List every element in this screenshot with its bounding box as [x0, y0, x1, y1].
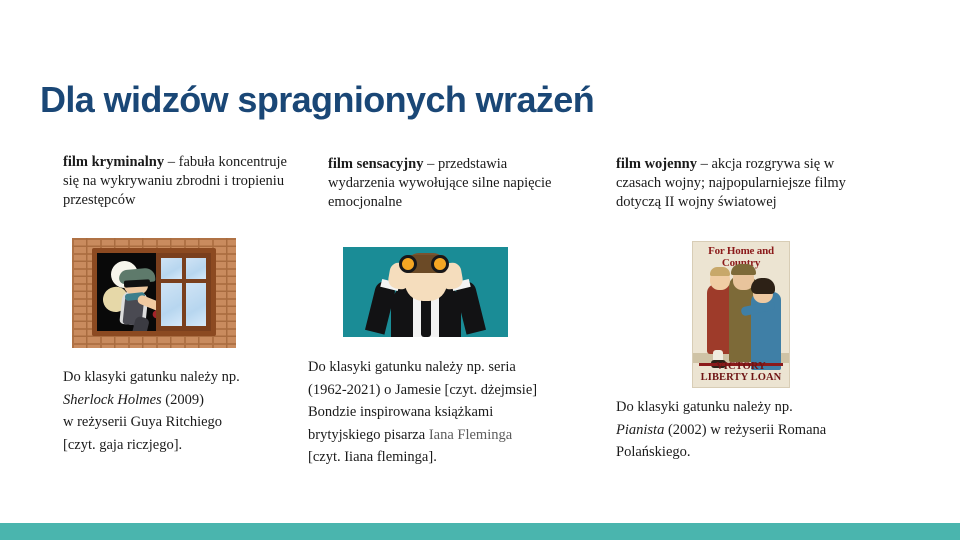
example-director-wojenny: Polańskiego.: [616, 444, 691, 460]
thief-mask-icon: [124, 279, 150, 287]
genre-dash-wojenny: –: [697, 156, 712, 172]
window-dark-opening: [97, 253, 156, 331]
footer-accent-bar: [0, 523, 960, 540]
example-sensacyjny: Do klasyki gatunku należy np. seria (196…: [308, 356, 578, 469]
window-pane: [161, 258, 181, 279]
example-lead-kryminalny: Do klasyki gatunku należy np.: [63, 369, 240, 385]
example-film-title-kryminalny: Sherlock Holmes: [63, 392, 162, 408]
example-director-kryminalny: w reżyserii Guya Ritchiego: [63, 414, 222, 430]
binoculars-man-illustration: [343, 247, 508, 337]
burglar-window-illustration: [72, 238, 236, 348]
example-line2-sensacyjny: (1962-2021) o Jamesie [czyt. dżejmsie]: [308, 382, 537, 398]
poster-woman-hair: [751, 278, 775, 294]
example-pronunciation-kryminalny: [czyt. gaja riczjego].: [63, 437, 182, 453]
window-frame-icon: [92, 248, 216, 336]
example-year-wojenny: (2002) w reżyserii Romana: [664, 422, 826, 438]
example-line3-sensacyjny: Bondzie inspirowana książkami: [308, 404, 493, 420]
slide-canvas: Dla widzów spragnionych wrażeń film krym…: [0, 0, 960, 540]
example-year-kryminalny: (2009): [162, 392, 204, 408]
example-line4-pre-sensacyjny: brytyjskiego pisarza: [308, 427, 429, 443]
binoculars-left-lens: [399, 255, 417, 273]
example-film-title-wojenny: Pianista: [616, 422, 664, 438]
window-pane-grid: [161, 258, 206, 326]
genre-term-kryminalny: film kryminalny: [63, 154, 164, 170]
example-author-name-sensacyjny: Iana Fleminga: [429, 427, 512, 443]
poster-soldier-helmet: [731, 264, 756, 275]
example-lead-wojenny: Do klasyki gatunku należy np.: [616, 399, 793, 415]
genre-term-wojenny: film wojenny: [616, 156, 697, 172]
genre-definition-sensacyjny: film sensacyjny – przedstawia wydarzenia…: [328, 155, 563, 212]
genre-term-sensacyjny: film sensacyjny: [328, 156, 423, 172]
window-pane: [186, 283, 206, 326]
binoculars-right-lens: [431, 255, 449, 273]
window-pane: [186, 258, 206, 279]
column-wojenny-definition: film wojenny – akcja rozgrywa się w czas…: [616, 155, 874, 212]
column-kryminalny-definition: film kryminalny – fabuła koncentruje się…: [63, 153, 295, 210]
example-wojenny: Do klasyki gatunku należy np. Pianista (…: [616, 396, 886, 464]
window-glass-side: [156, 253, 211, 331]
example-line1-sensacyjny: Do klasyki gatunku należy np. seria: [308, 359, 516, 375]
war-poster-illustration: For Home and Country VICTORY LIBERTY LOA…: [692, 241, 790, 388]
genre-dash-kryminalny: –: [164, 154, 179, 170]
poster-footer-text: VICTORY LIBERTY LOAN: [693, 361, 789, 383]
window-pane: [161, 283, 181, 326]
genre-dash-sensacyjny: –: [423, 156, 438, 172]
poster-child-hair: [710, 267, 730, 276]
page-title: Dla widzów spragnionych wrażeń: [40, 79, 594, 121]
example-pronunciation-sensacyjny: [czyt. Iiana fleminga].: [308, 449, 437, 465]
example-kryminalny: Do klasyki gatunku należy np. Sherlock H…: [63, 366, 313, 456]
column-sensacyjny-definition: film sensacyjny – przedstawia wydarzenia…: [328, 155, 563, 212]
genre-definition-wojenny: film wojenny – akcja rozgrywa się w czas…: [616, 155, 874, 212]
genre-definition-kryminalny: film kryminalny – fabuła koncentruje się…: [63, 153, 295, 210]
